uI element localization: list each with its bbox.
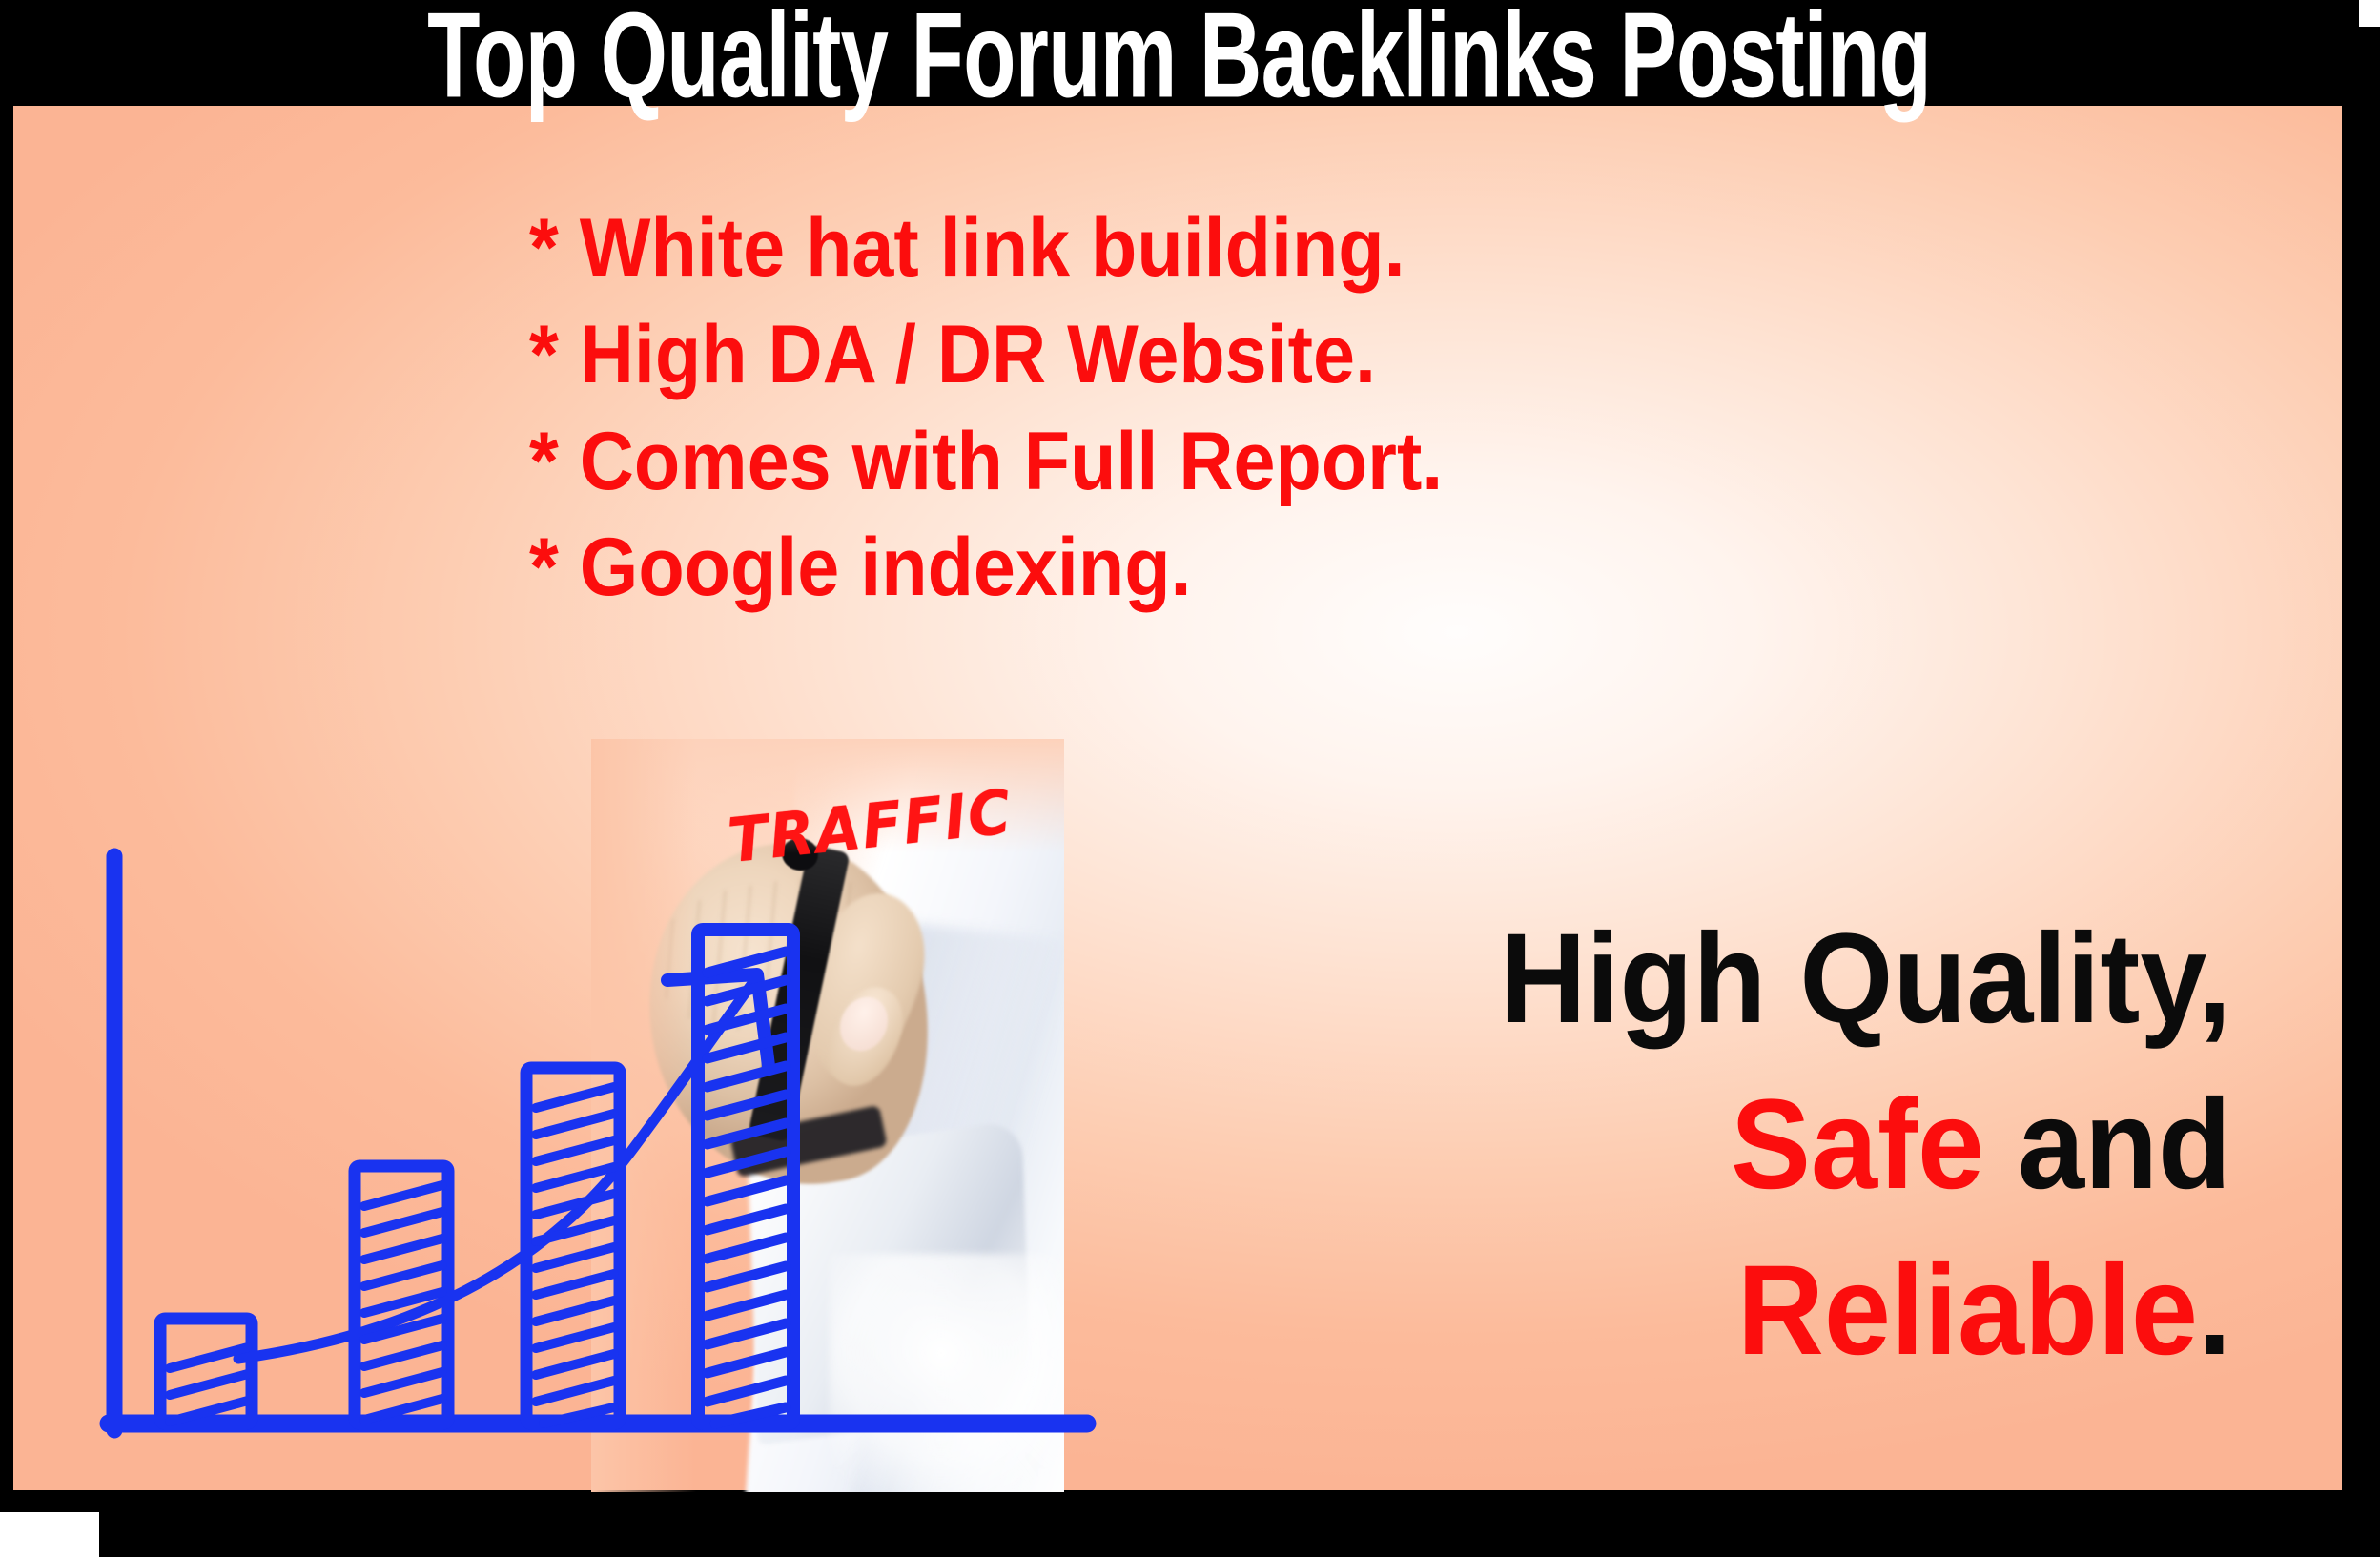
list-item: * Comes with Full Report. [529, 409, 1845, 516]
traffic-bar-chart [95, 839, 1106, 1487]
slogan-block: High Quality, Safe and Reliable. [1317, 896, 2231, 1395]
slogan-reliable: Reliable [1737, 1239, 2198, 1382]
feature-bullet-list: * White hat link building. * High DA / D… [529, 195, 1959, 622]
list-item: * Google indexing. [529, 515, 1845, 622]
list-item: * White hat link building. [529, 195, 1845, 302]
slogan-line-2: Safe and [1317, 1062, 2231, 1228]
slogan-period: . [2198, 1239, 2231, 1382]
headline-band: Top Quality Forum Backlinks Posting [0, 0, 2359, 110]
slogan-safe: Safe [1731, 1074, 1984, 1216]
list-item: * High DA / DR Website. [529, 302, 1845, 409]
slogan-and: and [1984, 1074, 2231, 1216]
poster-canvas: Top Quality Forum Backlinks Posting * Wh… [0, 0, 2380, 1557]
chart-bar-1 [160, 1319, 252, 1424]
slogan-line-3: Reliable. [1317, 1228, 2231, 1394]
chart-bar-2 [355, 1166, 448, 1424]
slogan-line-1: High Quality, [1317, 896, 2231, 1062]
chart-trend-curve [238, 982, 753, 1359]
chart-bar-4 [698, 930, 793, 1424]
page-title: Top Quality Forum Backlinks Posting [428, 0, 1932, 115]
